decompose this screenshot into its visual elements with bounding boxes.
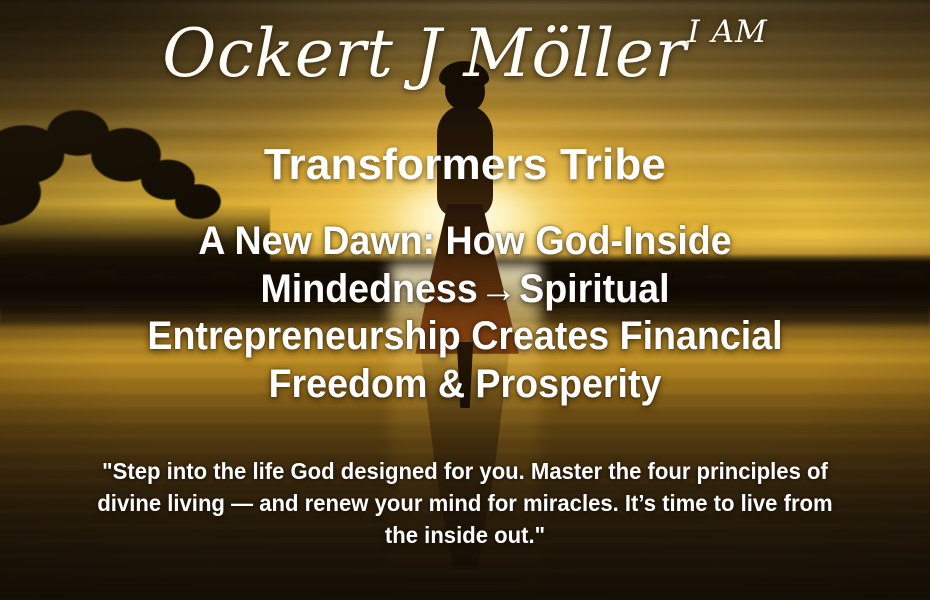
quote-text: "Step into the life God designed for you… [82,455,848,552]
i-am-suffix: I AM [688,14,768,50]
headline-line-1: A New Dawn: How God-Inside [39,218,891,266]
headline-line-3: Entrepreneurship Creates Financial [39,313,891,361]
arrow-icon: → [478,267,519,311]
headline-line-2-part-b: Spiritual [519,267,669,311]
banner-text-content: Ockert J MöllerI AM Transformers Tribe A… [0,0,930,600]
promotional-banner: Ockert J MöllerI AM Transformers Tribe A… [0,0,930,600]
author-signature: Ockert J MöllerI AM [0,16,930,89]
headline-line-2-part-a: Mindedness [260,267,477,311]
headline-line-2: Mindedness→Spiritual [39,266,891,314]
headline-line-4: Freedom & Prosperity [39,361,891,409]
brand-title: Transformers Tribe [0,140,930,190]
headline: A New Dawn: How God-Inside Mindedness→Sp… [39,218,891,408]
author-name: Ockert J Möller [162,15,686,92]
